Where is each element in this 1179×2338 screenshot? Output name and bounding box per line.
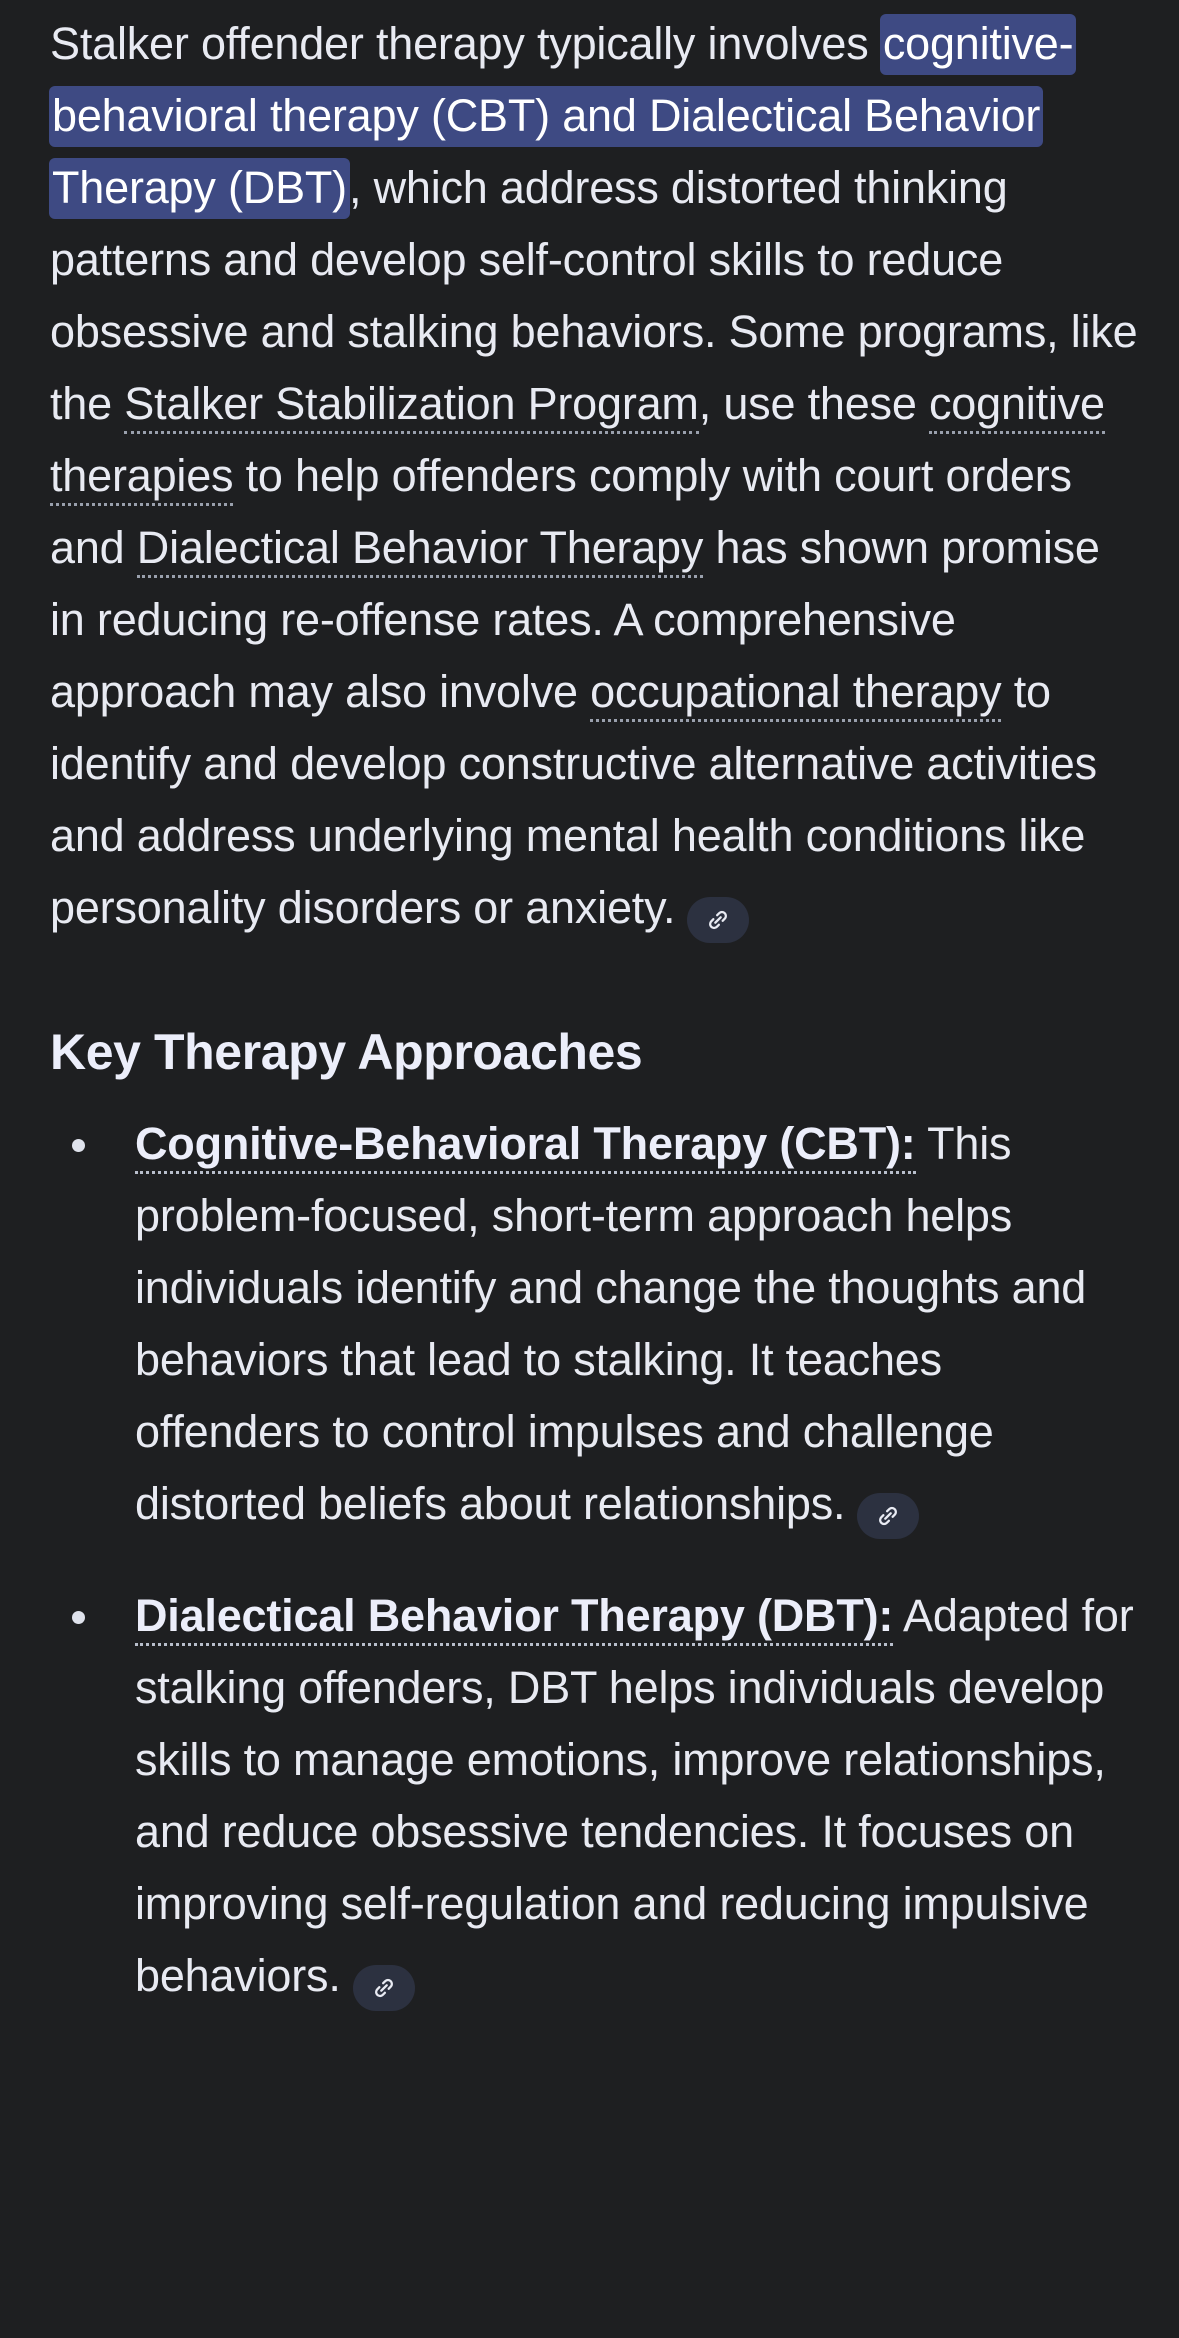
link-icon	[705, 907, 731, 933]
reference-link-stalker-stabilization-program[interactable]: Stalker Stabilization Program	[124, 378, 698, 434]
document-page: Stalker offender therapy typically invol…	[0, 0, 1179, 2338]
intro-paragraph: Stalker offender therapy typically invol…	[50, 0, 1139, 944]
reference-link-occupational-therapy[interactable]: occupational therapy	[590, 666, 1001, 722]
link-badge-bullet-2[interactable]	[353, 1965, 415, 2011]
paragraph-text-segment-3: , use these	[699, 378, 929, 429]
reference-link-dbt[interactable]: Dialectical Behavior Therapy (DBT):	[135, 1590, 893, 1646]
reference-link-dialectical-behavior-therapy[interactable]: Dialectical Behavior Therapy	[137, 522, 703, 578]
therapy-approaches-list: Cognitive-Behavioral Therapy (CBT): This…	[50, 1108, 1139, 2012]
list-item: Dialectical Behavior Therapy (DBT): Adap…	[50, 1580, 1139, 2012]
list-item-body: Adapted for stalking offenders, DBT help…	[135, 1590, 1134, 2001]
link-badge-paragraph[interactable]	[687, 897, 749, 943]
link-icon	[875, 1503, 901, 1529]
list-item-body: This problem-focused, short-term approac…	[135, 1118, 1086, 1529]
reference-link-cbt[interactable]: Cognitive-Behavioral Therapy (CBT):	[135, 1118, 916, 1174]
section-heading-key-therapy-approaches: Key Therapy Approaches	[50, 1022, 1139, 1082]
list-item: Cognitive-Behavioral Therapy (CBT): This…	[50, 1108, 1139, 1540]
link-badge-bullet-1[interactable]	[857, 1493, 919, 1539]
paragraph-text-segment-1: Stalker offender therapy typically invol…	[50, 18, 881, 69]
link-icon	[371, 1975, 397, 2001]
